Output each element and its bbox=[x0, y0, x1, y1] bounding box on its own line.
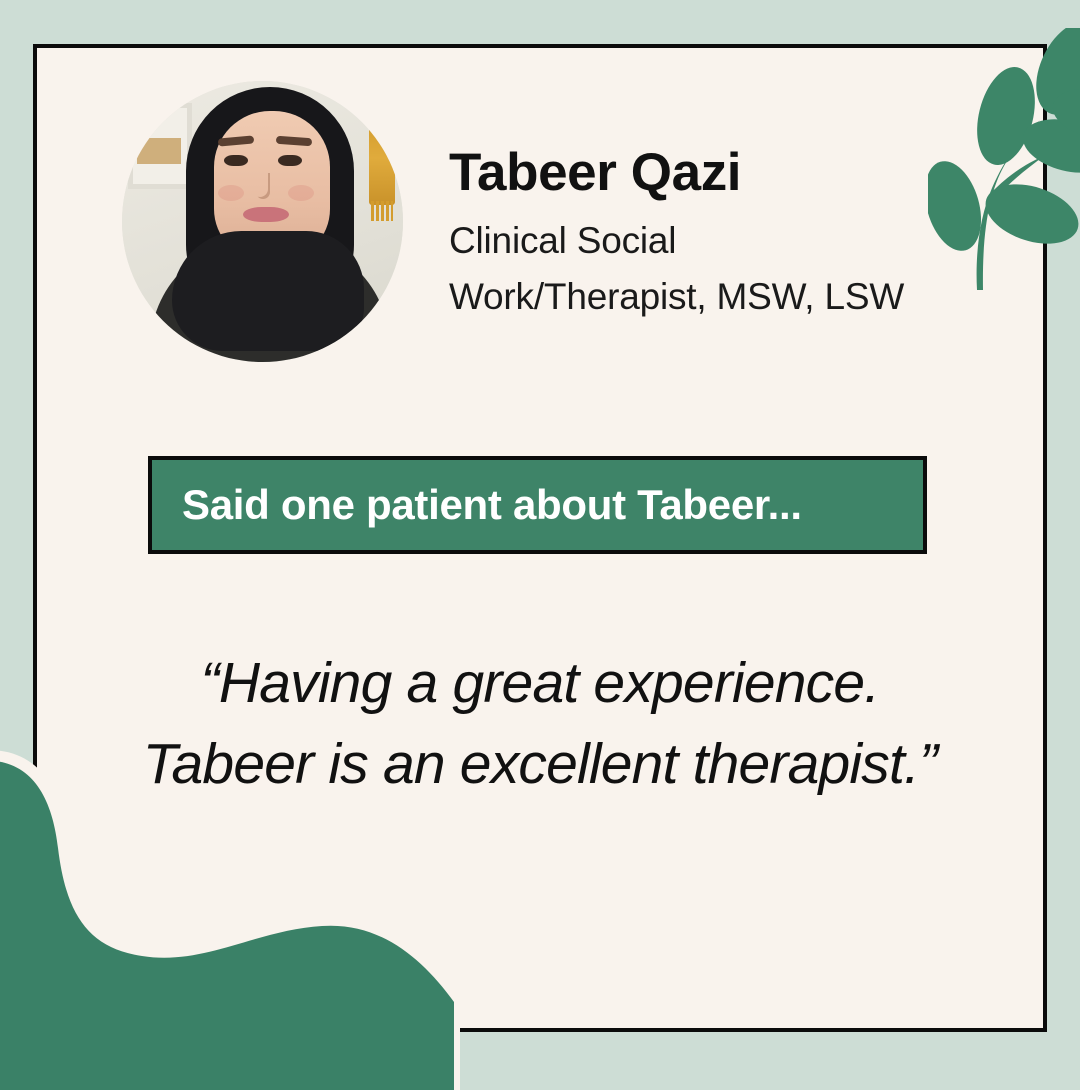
portrait-hijab-drape bbox=[172, 231, 364, 351]
quote-line-1: “Having a great experience. bbox=[37, 643, 1043, 724]
person-name: Tabeer Qazi bbox=[449, 144, 1009, 201]
avatar-photo bbox=[122, 81, 403, 362]
testimonial-banner: Said one patient about Tabeer... bbox=[148, 456, 927, 554]
avatar bbox=[122, 81, 403, 362]
portrait-cheek-left bbox=[218, 185, 244, 201]
testimonial-card: Tabeer Qazi Clinical Social Work/Therapi… bbox=[33, 44, 1047, 1032]
quote-line-2: Tabeer is an excellent therapist.” bbox=[37, 724, 1043, 805]
testimonial-quote: “Having a great experience. Tabeer is an… bbox=[37, 643, 1043, 805]
portrait-nose bbox=[256, 173, 270, 199]
portrait-eye-right bbox=[278, 155, 302, 166]
name-block: Tabeer Qazi Clinical Social Work/Therapi… bbox=[449, 144, 1009, 324]
banner-label: Said one patient about Tabeer... bbox=[152, 481, 802, 529]
wall-picture-frame bbox=[128, 103, 192, 189]
portrait-eye-left bbox=[224, 155, 248, 166]
person-title: Clinical Social Work/Therapist, MSW, LSW bbox=[449, 213, 1009, 324]
portrait-cheek-right bbox=[288, 185, 314, 201]
wall-tassel bbox=[369, 119, 395, 205]
portrait-mouth bbox=[243, 207, 289, 222]
person-title-line-2: Work/Therapist, MSW, LSW bbox=[449, 269, 1009, 325]
person-title-line-1: Clinical Social bbox=[449, 213, 1009, 269]
